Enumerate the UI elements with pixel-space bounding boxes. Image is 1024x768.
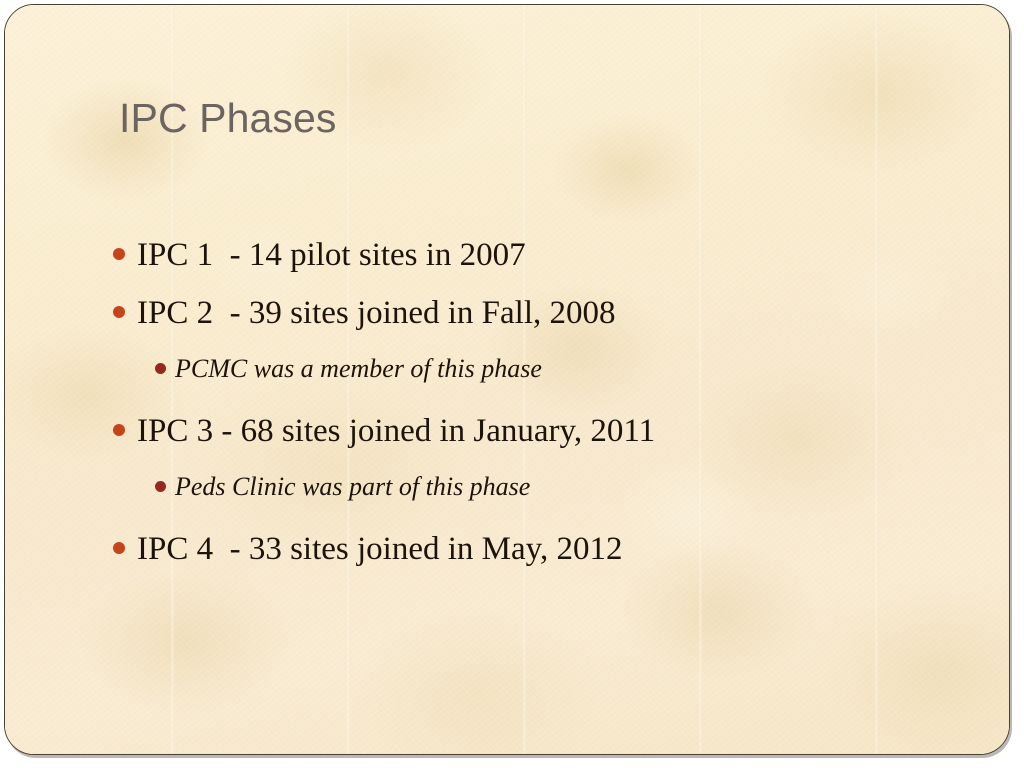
sub-list-item: PCMC was a member of this phase [113, 349, 933, 409]
list-item: IPC 3 - 68 sites joined in January, 2011 [113, 409, 933, 467]
list-item: IPC 2 - 39 sites joined in Fall, 2008 [113, 291, 933, 349]
sub-list-item: Peds Clinic was part of this phase [113, 467, 933, 527]
bullet-dot-icon [113, 424, 125, 436]
slide-canvas: IPC Phases IPC 1 - 14 pilot sites in 200… [4, 4, 1010, 755]
sub-list-item-label: PCMC was a member of this phase [175, 349, 542, 389]
bullet-dot-icon [113, 542, 125, 554]
list-item: IPC 1 - 14 pilot sites in 2007 [113, 233, 933, 291]
list-item-label: IPC 4 - 33 sites joined in May, 2012 [137, 527, 623, 571]
slide-content: IPC Phases IPC 1 - 14 pilot sites in 200… [5, 5, 1009, 754]
list-item-label: IPC 2 - 39 sites joined in Fall, 2008 [137, 291, 616, 335]
sub-bullet-dot-icon [155, 481, 166, 492]
slide-root: IPC Phases IPC 1 - 14 pilot sites in 200… [0, 0, 1024, 768]
sub-list-item-label: Peds Clinic was part of this phase [175, 467, 530, 507]
bullet-dot-icon [113, 248, 125, 260]
bullet-list: IPC 1 - 14 pilot sites in 2007 IPC 2 - 3… [113, 233, 933, 585]
sub-bullet-dot-icon [155, 363, 166, 374]
list-item-label: IPC 3 - 68 sites joined in January, 2011 [137, 409, 655, 453]
bullet-dot-icon [113, 306, 125, 318]
list-item: IPC 4 - 33 sites joined in May, 2012 [113, 527, 933, 585]
page-title: IPC Phases [119, 95, 337, 142]
list-item-label: IPC 1 - 14 pilot sites in 2007 [137, 233, 526, 277]
